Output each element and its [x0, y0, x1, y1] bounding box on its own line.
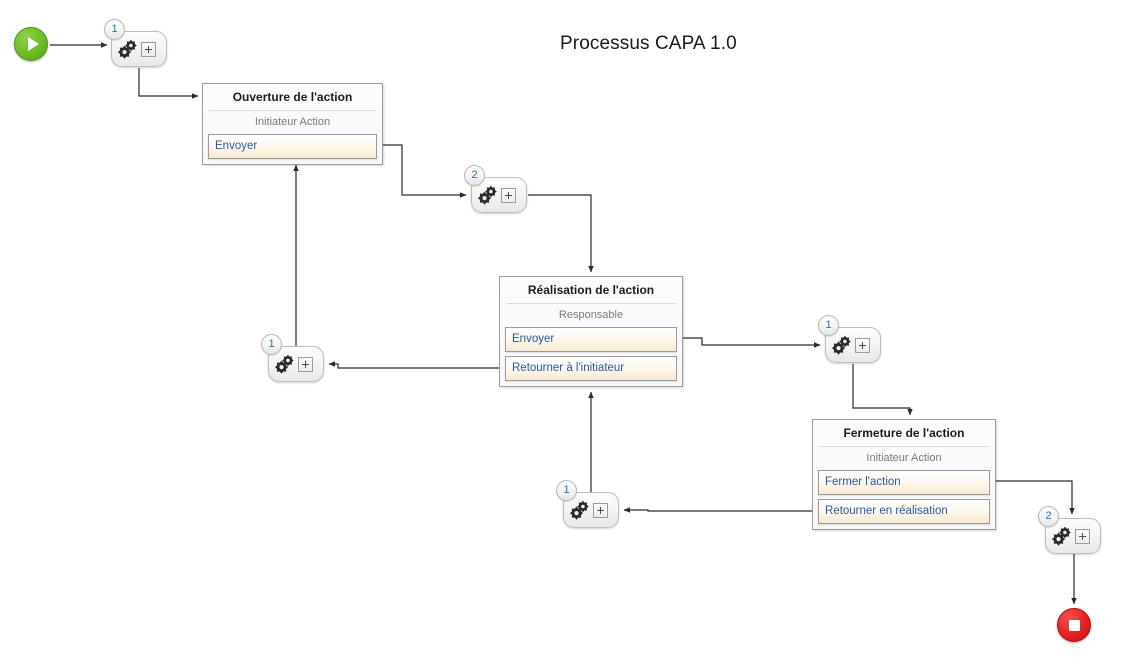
flow-fermeture-to-gear6: [996, 481, 1072, 514]
task-actions: EnvoyerRetourner à l'initiateur: [500, 327, 682, 386]
plus-icon[interactable]: [501, 188, 516, 203]
action-retourner-initiateur[interactable]: Retourner à l'initiateur: [505, 356, 677, 381]
gear-node-badge: 1: [261, 334, 282, 355]
plus-icon[interactable]: [141, 42, 156, 57]
gear-node-2[interactable]: 2: [471, 177, 527, 213]
play-icon: [28, 37, 39, 51]
plus-icon[interactable]: [298, 357, 313, 372]
flow-realisation-to-gear4: [683, 338, 820, 345]
task-role-label: Initiateur Action: [813, 447, 995, 470]
gears-icon: [569, 499, 591, 521]
gear-node-badge: 1: [104, 19, 125, 40]
gears-icon: [274, 353, 296, 375]
workflow-canvas: Processus CAPA 1.0 121112Ouverture de l'…: [0, 0, 1122, 657]
task-fermeture: Fermeture de l'actionInitiateur ActionFe…: [812, 419, 996, 530]
stop-icon: [1069, 620, 1080, 631]
gears-icon: [831, 334, 853, 356]
gears-icon: [477, 184, 499, 206]
flow-fermeture-to-gear5: [624, 510, 812, 511]
task-title: Réalisation de l'action: [506, 277, 676, 304]
gear-node-5[interactable]: 1: [563, 492, 619, 528]
task-role-label: Responsable: [500, 304, 682, 327]
gears-icon: [1051, 525, 1073, 547]
gear-node-badge: 2: [1038, 506, 1059, 527]
task-role-label: Initiateur Action: [203, 111, 382, 134]
gear-node-6[interactable]: 2: [1045, 518, 1101, 554]
gear-node-badge: 1: [818, 315, 839, 336]
flow-gear4-to-fermeture: [853, 364, 910, 415]
action-retourner-realisation[interactable]: Retourner en réalisation: [818, 499, 990, 524]
plus-icon[interactable]: [593, 503, 608, 518]
action-fermer-laction[interactable]: Fermer l'action: [818, 470, 990, 495]
task-ouverture: Ouverture de l'actionInitiateur ActionEn…: [202, 83, 383, 165]
task-actions: Fermer l'actionRetourner en réalisation: [813, 470, 995, 529]
flow-ouverture-to-gear2: [383, 145, 466, 195]
flow-gear2-to-realisation: [528, 195, 591, 272]
start-event[interactable]: [14, 27, 48, 61]
end-event[interactable]: [1057, 608, 1091, 642]
plus-icon[interactable]: [1075, 529, 1090, 544]
task-title: Ouverture de l'action: [209, 84, 376, 111]
action-envoyer[interactable]: Envoyer: [505, 327, 677, 352]
task-title: Fermeture de l'action: [819, 420, 989, 447]
gear-node-badge: 2: [464, 165, 485, 186]
flow-gear1-to-ouverture: [139, 68, 198, 96]
task-actions: Envoyer: [203, 134, 382, 164]
gear-node-4[interactable]: 1: [825, 327, 881, 363]
page-title: Processus CAPA 1.0: [560, 33, 737, 55]
flow-realisation-to-gear3: [329, 364, 499, 368]
task-realisation: Réalisation de l'actionResponsableEnvoye…: [499, 276, 683, 387]
gears-icon: [117, 38, 139, 60]
action-envoyer[interactable]: Envoyer: [208, 134, 377, 159]
gear-node-1[interactable]: 1: [111, 31, 167, 67]
gear-node-badge: 1: [556, 480, 577, 501]
gear-node-3[interactable]: 1: [268, 346, 324, 382]
plus-icon[interactable]: [855, 338, 870, 353]
